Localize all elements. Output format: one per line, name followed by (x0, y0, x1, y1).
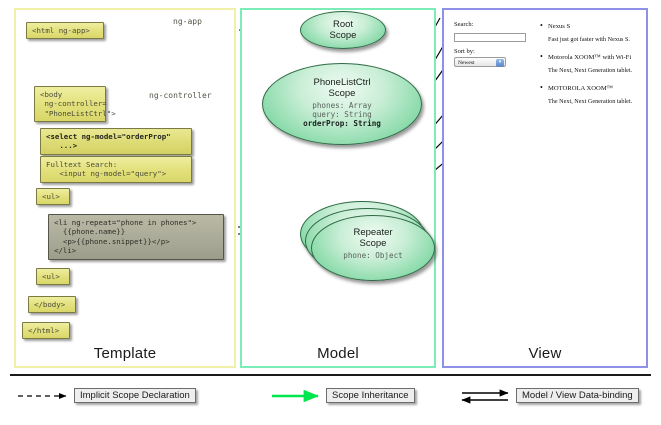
phone-snippet: Fast just got faster with Nexus S. (540, 35, 640, 44)
scope-root-title-line2: Scope (301, 30, 385, 41)
list-item[interactable]: Motorola XOOM™ with Wi-Fi The Next, Next… (540, 53, 640, 75)
label-ng-controller: ng-controller (149, 91, 212, 100)
legend-model-view-data-binding: Model / View Data-binding (516, 388, 639, 403)
code-block-html-close[interactable]: </html> (22, 322, 70, 339)
scope-phonelistctrl[interactable]: PhoneListCtrl Scope phones: Array query:… (262, 63, 422, 145)
panel-label-view: View (444, 345, 646, 362)
code-block-fulltext-search[interactable]: Fulltext Search: <input ng-model="query"… (40, 156, 192, 183)
scope-property-phones: phones: Array (263, 101, 421, 110)
search-input[interactable] (454, 33, 526, 42)
panel-model: Model (240, 8, 436, 368)
scope-root[interactable]: Root Scope (300, 11, 386, 49)
scope-repeater-title-line2: Scope (312, 238, 434, 249)
scope-repeater-title-line1: Repeater (312, 227, 434, 238)
panel-view: Search: Sort by: Newest ▾ Nexus S Fast j… (442, 8, 648, 368)
phone-list: Nexus S Fast just got faster with Nexus … (540, 22, 640, 115)
panel-label-model: Model (242, 345, 434, 362)
sort-by-label: Sort by: (454, 47, 530, 56)
code-block-ul-open[interactable]: <ul> (36, 188, 70, 205)
scope-property-orderprop: orderProp: String (263, 119, 421, 128)
diagram-canvas: Template <html ng-app> <body ng-controll… (0, 0, 661, 425)
phone-snippet: The Next, Next Generation tablet. (540, 97, 640, 106)
phone-name[interactable]: MOTOROLA XOOM™ (540, 84, 640, 93)
code-block-html-open[interactable]: <html ng-app> (26, 22, 104, 39)
search-form: Search: Sort by: Newest ▾ (454, 20, 530, 67)
scope-phonelistctrl-title-line2: Scope (263, 88, 421, 99)
phone-name[interactable]: Motorola XOOM™ with Wi-Fi (540, 53, 640, 62)
scope-phonelistctrl-title-line1: PhoneListCtrl (263, 77, 421, 88)
code-block-body-close[interactable]: </body> (28, 296, 76, 313)
search-label: Search: (454, 20, 530, 29)
scope-root-title-line1: Root (301, 19, 385, 30)
legend-scope-inheritance: Scope Inheritance (326, 388, 415, 403)
sort-by-select[interactable]: Newest ▾ (454, 57, 506, 67)
code-block-select-ngmodel[interactable]: <select ng-model="orderProp" ...> (40, 128, 192, 155)
scope-property-phone: phone: Object (312, 251, 434, 260)
code-block-ul-close[interactable]: <ul> (36, 268, 70, 285)
chevron-down-icon: ▾ (496, 59, 504, 67)
scope-phonelistctrl-properties: phones: Array query: String orderProp: S… (263, 101, 421, 129)
label-ng-app: ng-app (173, 17, 202, 26)
legend-divider (10, 374, 651, 376)
scope-repeater-properties: phone: Object (312, 251, 434, 260)
sort-by-selected-value: Newest (458, 60, 475, 66)
code-block-li-ngrepeat[interactable]: <li ng-repeat="phone in phones"> {{phone… (48, 214, 224, 260)
scope-repeater[interactable]: Repeater Scope phone: Object (311, 215, 435, 281)
legend-implicit-scope-declaration: Implicit Scope Declaration (74, 388, 196, 403)
phone-snippet: The Next, Next Generation tablet. (540, 66, 640, 75)
browser-preview: Search: Sort by: Newest ▾ Nexus S Fast j… (448, 14, 642, 350)
code-block-body-open[interactable]: <body ng-controller= "PhoneListCtrl"> (34, 86, 106, 122)
panel-label-template: Template (16, 345, 234, 362)
list-item[interactable]: MOTOROLA XOOM™ The Next, Next Generation… (540, 84, 640, 106)
phone-name[interactable]: Nexus S (540, 22, 640, 31)
list-item[interactable]: Nexus S Fast just got faster with Nexus … (540, 22, 640, 44)
scope-property-query: query: String (263, 110, 421, 119)
